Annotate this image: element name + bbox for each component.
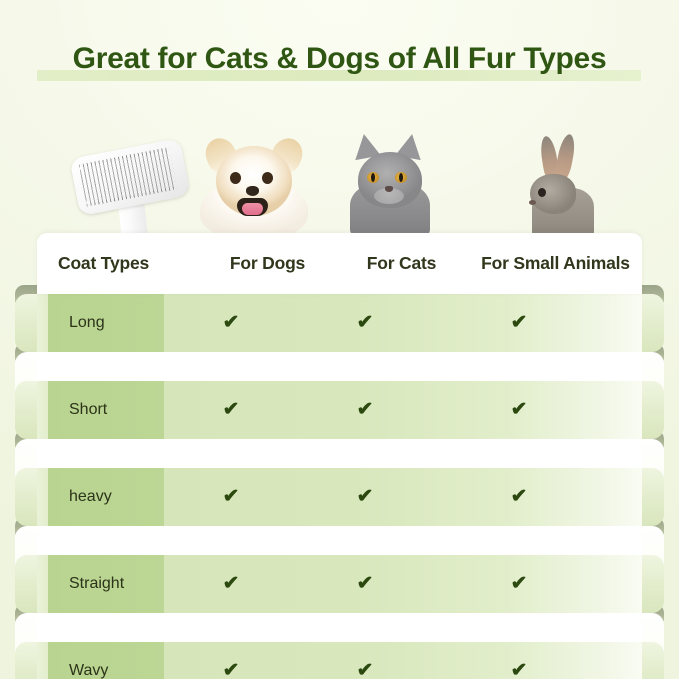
check-icon: ✔ bbox=[510, 661, 527, 679]
check-icon: ✔ bbox=[356, 313, 373, 332]
cell-for-dogs: ✔ bbox=[164, 574, 297, 594]
coat-type-label: heavy bbox=[48, 468, 164, 526]
cell-for-dogs: ✔ bbox=[164, 400, 297, 420]
page-title-block: Great for Cats & Dogs of All Fur Types bbox=[0, 40, 679, 78]
table-row: heavy ✔ ✔ ✔ bbox=[0, 468, 679, 526]
rabbit-gray-image bbox=[512, 128, 608, 240]
column-header-for-dogs: For Dogs bbox=[201, 253, 334, 274]
table-row-band: Long ✔ ✔ ✔ bbox=[37, 294, 642, 352]
cell-for-cats: ✔ bbox=[297, 313, 432, 333]
coat-type-label: Wavy bbox=[48, 642, 164, 679]
table-row: Short ✔ ✔ ✔ bbox=[0, 381, 679, 439]
rabbit-eye bbox=[538, 188, 546, 197]
cell-for-small-animals: ✔ bbox=[432, 400, 605, 420]
pet-grooming-brush-image bbox=[62, 128, 202, 240]
cell-for-dogs: ✔ bbox=[164, 313, 297, 333]
check-icon: ✔ bbox=[222, 487, 239, 506]
check-icon: ✔ bbox=[356, 487, 373, 506]
check-icon: ✔ bbox=[510, 574, 527, 593]
check-icon: ✔ bbox=[222, 574, 239, 593]
table-row-band: heavy ✔ ✔ ✔ bbox=[37, 468, 642, 526]
coat-type-label: Long bbox=[48, 294, 164, 352]
rabbit-head bbox=[530, 174, 576, 214]
table-header-row: Coat Types For Dogs For Cats For Small A… bbox=[37, 233, 642, 294]
coat-type-compatibility-table: Coat Types For Dogs For Cats For Small A… bbox=[0, 233, 679, 653]
check-icon: ✔ bbox=[356, 574, 373, 593]
table-row: Wavy ✔ ✔ ✔ bbox=[0, 642, 679, 679]
check-icon: ✔ bbox=[510, 313, 527, 332]
cat-gray-shorthair-image bbox=[340, 128, 440, 240]
check-icon: ✔ bbox=[222, 661, 239, 679]
row-notch bbox=[37, 555, 48, 613]
cat-pupil-right bbox=[399, 173, 403, 182]
table-row-band: Wavy ✔ ✔ ✔ bbox=[37, 642, 642, 679]
column-header-for-small-animals: For Small Animals bbox=[469, 253, 642, 274]
row-notch bbox=[37, 294, 48, 352]
coat-type-label: Straight bbox=[48, 555, 164, 613]
page-title: Great for Cats & Dogs of All Fur Types bbox=[73, 40, 607, 78]
column-header-for-cats: For Cats bbox=[334, 253, 469, 274]
column-header-coat-types: Coat Types bbox=[37, 253, 201, 274]
cell-for-dogs: ✔ bbox=[164, 487, 297, 507]
cell-for-cats: ✔ bbox=[297, 661, 432, 679]
check-icon: ✔ bbox=[356, 400, 373, 419]
cat-nose bbox=[385, 186, 393, 192]
check-icon: ✔ bbox=[510, 487, 527, 506]
infographic-canvas: Great for Cats & Dogs of All Fur Types bbox=[0, 0, 679, 679]
cell-for-small-animals: ✔ bbox=[432, 487, 605, 507]
rabbit-nose bbox=[529, 200, 536, 205]
dog-tongue bbox=[242, 203, 263, 215]
cat-pupil-left bbox=[371, 173, 375, 182]
table-row-band: Straight ✔ ✔ ✔ bbox=[37, 555, 642, 613]
table-row-band: Short ✔ ✔ ✔ bbox=[37, 381, 642, 439]
cell-for-dogs: ✔ bbox=[164, 661, 297, 679]
row-notch bbox=[37, 642, 48, 679]
dog-eye-right bbox=[262, 172, 273, 184]
row-notch bbox=[37, 468, 48, 526]
pet-photo-strip bbox=[0, 118, 679, 240]
dog-eye-left bbox=[230, 172, 241, 184]
table-header-card: Coat Types For Dogs For Cats For Small A… bbox=[37, 233, 642, 294]
cell-for-cats: ✔ bbox=[297, 400, 432, 420]
cell-for-cats: ✔ bbox=[297, 487, 432, 507]
table-row: Long ✔ ✔ ✔ bbox=[0, 294, 679, 352]
table-row: Straight ✔ ✔ ✔ bbox=[0, 555, 679, 613]
check-icon: ✔ bbox=[356, 661, 373, 679]
brush-head bbox=[69, 138, 190, 216]
cell-for-cats: ✔ bbox=[297, 574, 432, 594]
cell-for-small-animals: ✔ bbox=[432, 574, 605, 594]
cell-for-small-animals: ✔ bbox=[432, 661, 605, 679]
dog-pomeranian-image bbox=[196, 128, 312, 240]
check-icon: ✔ bbox=[222, 313, 239, 332]
dog-nose bbox=[246, 186, 259, 196]
row-notch bbox=[37, 381, 48, 439]
check-icon: ✔ bbox=[222, 400, 239, 419]
check-icon: ✔ bbox=[510, 400, 527, 419]
cell-for-small-animals: ✔ bbox=[432, 313, 605, 333]
coat-type-label: Short bbox=[48, 381, 164, 439]
